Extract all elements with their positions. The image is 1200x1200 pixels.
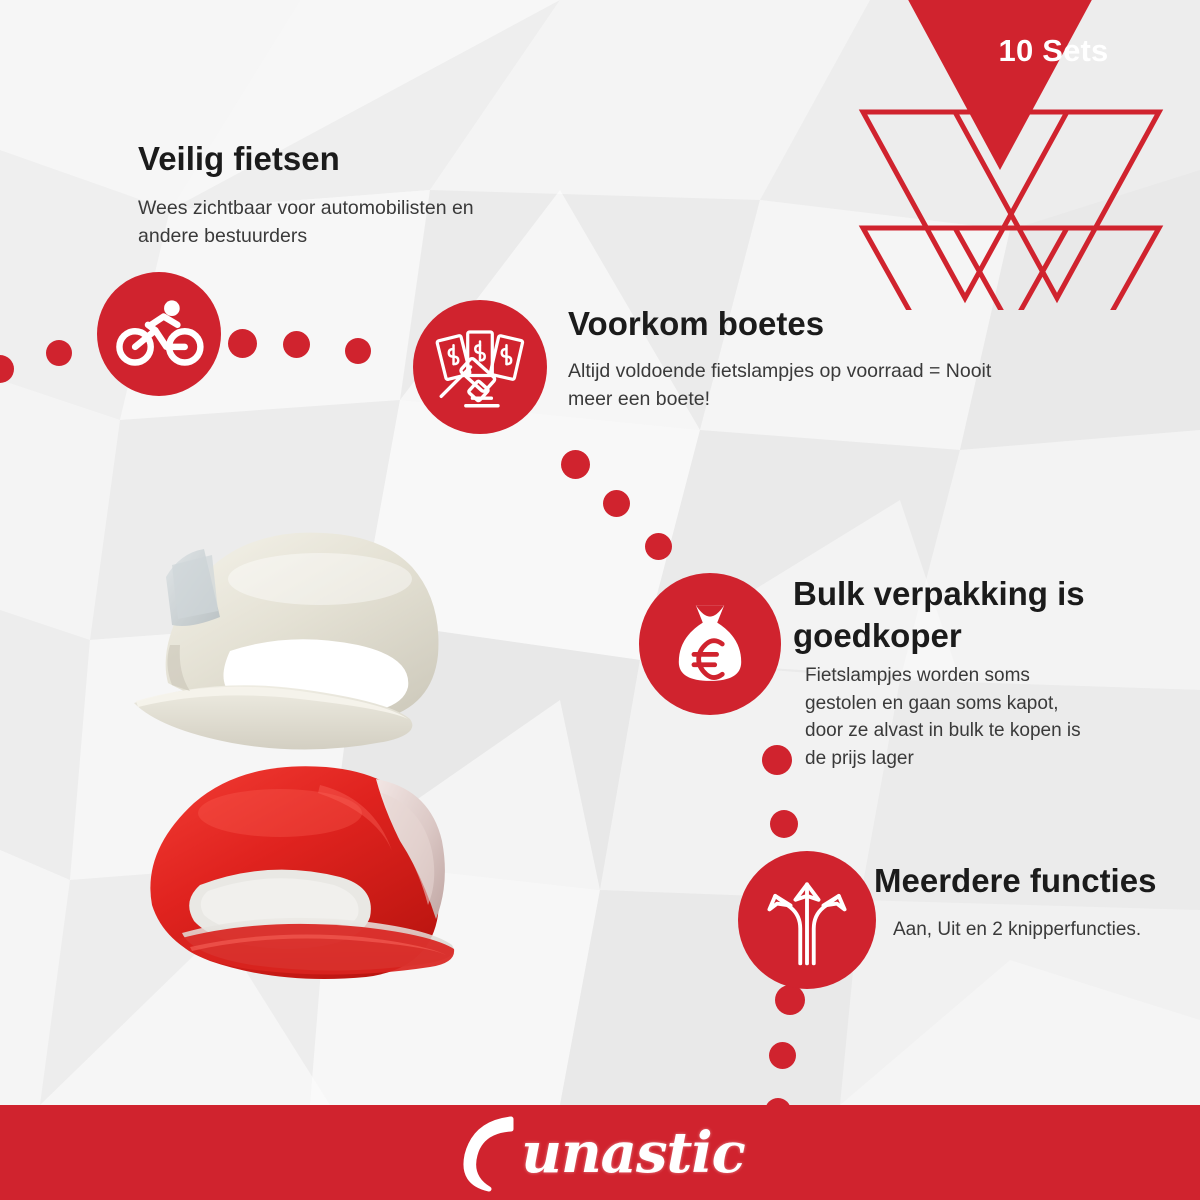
trail-dot bbox=[0, 355, 14, 383]
feature-desc-voorkom-boetes: Altijd voldoende fietslampjes op voorraa… bbox=[568, 358, 998, 413]
brand-logo: unastic bbox=[0, 1105, 1200, 1200]
feature-title-veilig-fietsen: Veilig fietsen bbox=[138, 140, 340, 178]
feature-icon-meerdere-functies bbox=[738, 851, 876, 989]
feature-title-meerdere-functies: Meerdere functies bbox=[874, 862, 1156, 900]
trail-dot bbox=[769, 1042, 796, 1069]
trail-dot bbox=[228, 329, 257, 358]
trail-dot bbox=[603, 490, 630, 517]
feature-desc-veilig-fietsen: Wees zichtbaar voor automobilisten en an… bbox=[138, 195, 538, 250]
white-silicone-bike-light-photo bbox=[120, 505, 480, 780]
trail-dot bbox=[762, 745, 792, 775]
feature-icon-bulk-verpakking bbox=[639, 573, 781, 715]
feature-icon-veilig-fietsen bbox=[97, 272, 221, 396]
feature-title-bulk-verpakking: Bulk verpakking is goedkoper bbox=[793, 573, 1153, 657]
money-bag-euro-icon bbox=[658, 592, 762, 696]
gavel-money-icon bbox=[428, 315, 532, 419]
trail-dot bbox=[345, 338, 371, 364]
trail-dot bbox=[770, 810, 798, 838]
bicycle-icon bbox=[113, 288, 205, 380]
feature-desc-meerdere-functies: Aan, Uit en 2 knipperfuncties. bbox=[893, 917, 1200, 944]
brand-name: unastic bbox=[521, 1120, 744, 1186]
trail-dot bbox=[283, 331, 310, 358]
feature-title-voorkom-boetes: Voorkom boetes bbox=[568, 305, 824, 343]
infographic-canvas: 10 Sets bbox=[0, 0, 1200, 1200]
three-way-arrow-icon bbox=[754, 867, 860, 973]
crescent-moon-logo-icon bbox=[455, 1111, 527, 1195]
red-silicone-bike-light-photo bbox=[130, 755, 490, 1015]
trail-dot bbox=[561, 450, 590, 479]
trail-dot bbox=[46, 340, 72, 366]
trail-dot bbox=[775, 985, 805, 1015]
feature-desc-bulk-verpakking: Fietslampjes worden soms gestolen en gaa… bbox=[805, 662, 1095, 773]
feature-icon-voorkom-boetes bbox=[413, 300, 547, 434]
trail-dot bbox=[645, 533, 672, 560]
